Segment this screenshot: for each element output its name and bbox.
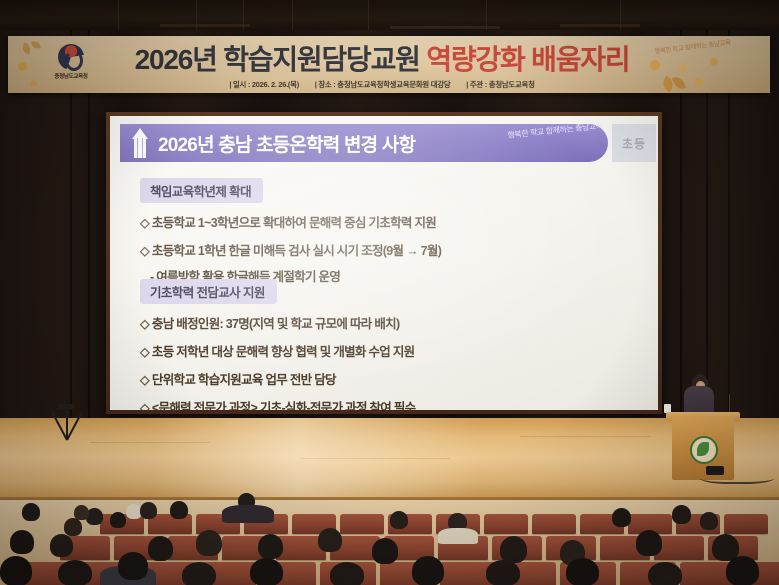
slide-category-tab: 초등 bbox=[612, 124, 656, 162]
section-2-bullet-3: ◇단위학교 학습지원교육 업무 전반 담당 bbox=[140, 369, 416, 388]
section-1-bullet-1-text: 초등학교 1~3학년으로 확대하여 문해력 중심 기초학력 지원 bbox=[152, 216, 436, 230]
diamond-marker-icon: ◇ bbox=[140, 244, 149, 258]
banner-detail-host: | 주관 : 충청남도교육청 bbox=[466, 80, 534, 89]
presentation-slide: 2026년 충남 초등온학력 변경 사항 행복한 학교 함께하는 충남교육 초등… bbox=[110, 116, 658, 410]
section-2-bullet-1-text: 충남 배정인원: 37명(지역 및 학교 규모에 따라 배치) bbox=[152, 317, 400, 331]
seat bbox=[340, 514, 384, 534]
diamond-marker-icon: ◇ bbox=[140, 317, 149, 331]
banner-calligraphy: 행복한 학교 함께하는 충남교육 bbox=[654, 36, 731, 55]
audience-member bbox=[500, 536, 527, 563]
banner-title: 2026년 학습지원담당교원 역량강화 배움자리 bbox=[112, 42, 652, 78]
audience-member bbox=[196, 530, 222, 556]
slide-section-1: 책임교육학년제 확대 ◇초등학교 1~3학년으로 확대하여 문해력 중심 기초학… bbox=[140, 178, 441, 285]
section-2-bullet-4-text: <문해력 전문가 과정> 기초-심화-전문가 과정 참여 필수 bbox=[152, 401, 416, 410]
audience-member bbox=[50, 534, 73, 557]
banner-detail-date: | 일시 : 2026. 2. 26.(목) bbox=[229, 80, 299, 89]
audience-member bbox=[486, 560, 520, 585]
audience-member bbox=[372, 538, 398, 564]
diamond-marker-icon: ◇ bbox=[140, 401, 149, 410]
audience-member bbox=[140, 502, 157, 519]
slide-section-2: 기초학력 전담교사 지원 ◇충남 배정인원: 37명(지역 및 학교 규모에 따… bbox=[140, 279, 416, 410]
section-2-bullet-1: ◇충남 배정인원: 37명(지역 및 학교 규모에 따라 배치) bbox=[140, 313, 416, 332]
banner-title-dark: 2026년 학습지원담당교원 bbox=[135, 44, 420, 75]
projection-screen: 2026년 충남 초등온학력 변경 사항 행복한 학교 함께하는 충남교육 초등… bbox=[110, 116, 658, 410]
slide-title: 2026년 충남 초등온학력 변경 사항 bbox=[158, 130, 415, 157]
section-2-bullet-2: ◇초등 저학년 대상 문해력 향상 협력 및 개별화 수업 지원 bbox=[140, 341, 416, 360]
audience-member bbox=[148, 536, 173, 561]
office-of-education-logo: 충청남도교육청 bbox=[42, 44, 100, 88]
audience-member bbox=[250, 558, 283, 585]
banner-details: | 일시 : 2026. 2. 26.(목) | 장소 : 충청남도교육청학생교… bbox=[112, 79, 652, 90]
audience-member bbox=[74, 505, 89, 520]
section-2-bullet-3-text: 단위학교 학습지원교육 업무 전반 담당 bbox=[152, 373, 336, 387]
audience-member bbox=[10, 530, 34, 554]
diamond-marker-icon: ◇ bbox=[140, 216, 149, 230]
audience-member bbox=[182, 562, 216, 585]
section-1-heading: 책임교육학년제 확대 bbox=[140, 178, 263, 203]
seat bbox=[724, 514, 768, 534]
section-2-heading: 기초학력 전담교사 지원 bbox=[140, 279, 277, 304]
audience-member bbox=[700, 512, 718, 530]
seat bbox=[484, 514, 528, 534]
diamond-marker-icon: ◇ bbox=[140, 345, 149, 359]
audience-member bbox=[390, 511, 408, 529]
audience-member bbox=[64, 518, 82, 536]
seat bbox=[532, 514, 576, 534]
section-1-bullet-2: ◇초등학교 1학년 한글 미해득 검사 실시 시기 조정(9월 → 7월) bbox=[140, 240, 441, 259]
cable-junction-box bbox=[706, 466, 724, 475]
section-2-bullet-2-text: 초등 저학년 대상 문해력 향상 협력 및 개별화 수업 지원 bbox=[152, 345, 415, 359]
section-1-bullet-2-text: 초등학교 1학년 한글 미해득 검사 실시 시기 조정(9월 → 7월) bbox=[152, 244, 441, 258]
logo-label: 충청남도교육청 bbox=[42, 72, 100, 80]
audience-member bbox=[0, 556, 32, 585]
banner-right-decoration: 행복한 학교 함께하는 충남교육 bbox=[644, 38, 766, 92]
audience-member bbox=[412, 556, 444, 585]
audience-member bbox=[330, 562, 364, 585]
ceiling-rig bbox=[0, 0, 779, 34]
audience-member bbox=[222, 505, 274, 523]
audience-member bbox=[318, 528, 342, 552]
section-1-bullet-1: ◇초등학교 1~3학년으로 확대하여 문해력 중심 기초학력 지원 bbox=[140, 212, 441, 231]
audience-member bbox=[438, 528, 478, 544]
logo-mark-icon bbox=[58, 44, 84, 70]
audience-member bbox=[22, 503, 40, 521]
audience-member bbox=[636, 530, 662, 556]
audience-member bbox=[726, 556, 759, 585]
event-banner: 충청남도교육청 2026년 학습지원담당교원 역량강화 배움자리 | 일시 : … bbox=[8, 36, 770, 93]
auditorium-scene: 충청남도교육청 2026년 학습지원담당교원 역량강화 배움자리 | 일시 : … bbox=[0, 0, 779, 585]
banner-title-red: 역량강화 배움자리 bbox=[426, 44, 629, 75]
audience-member bbox=[110, 512, 126, 528]
audience-member bbox=[648, 562, 682, 585]
audience-member bbox=[118, 552, 148, 580]
speaker-stand-tripod bbox=[44, 404, 90, 440]
audience-member bbox=[258, 534, 283, 559]
diamond-marker-icon: ◇ bbox=[140, 373, 149, 387]
audience-member bbox=[612, 508, 631, 527]
audience-member bbox=[170, 501, 188, 519]
banner-detail-place: | 장소 : 충청남도교육청학생교육문화원 대강당 bbox=[315, 80, 451, 89]
leaf-emblem-icon bbox=[690, 436, 718, 464]
section-2-bullet-4: ◇<문해력 전문가 과정> 기초-심화-전문가 과정 참여 필수 bbox=[140, 397, 416, 410]
audience-member bbox=[566, 558, 599, 585]
pencil-icon bbox=[132, 128, 148, 158]
audience-member bbox=[58, 560, 92, 585]
audience-member bbox=[672, 505, 691, 524]
